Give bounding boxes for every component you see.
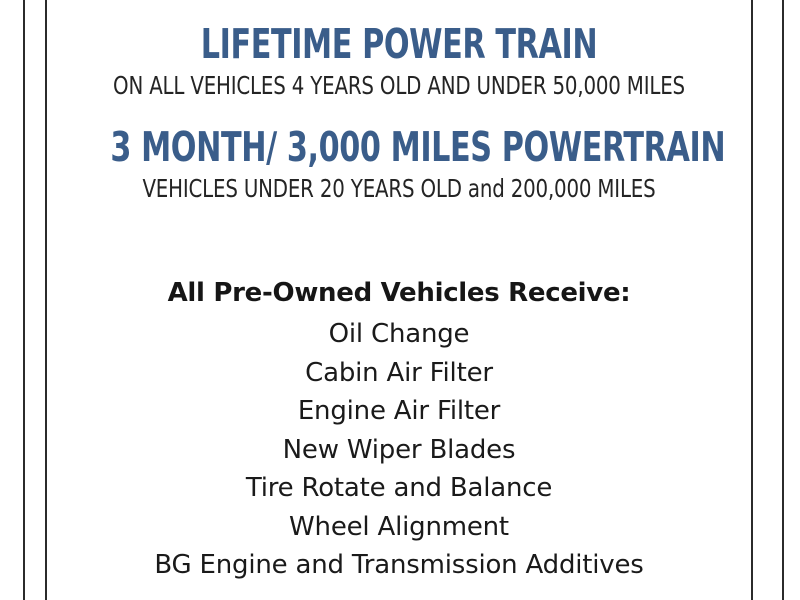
warranty-headline-3month: 3 MONTH/ 3,000 MILES POWERTRAIN — [110, 125, 687, 169]
frame-rule-right-outer — [782, 0, 784, 600]
flyer-page: LIFETIME POWER TRAIN ON ALL VEHICLES 4 Y… — [0, 0, 800, 600]
services-section: All Pre-Owned Vehicles Receive: Oil Chan… — [47, 277, 751, 585]
service-item: BG Engine and Transmission Additives — [47, 546, 751, 585]
service-item: New Wiper Blades — [47, 431, 751, 470]
warranty-subline-lifetime: ON ALL VEHICLES 4 YEARS OLD AND UNDER 50… — [89, 72, 709, 100]
service-item: Engine Air Filter — [47, 392, 751, 431]
warranty-subline-3month: VEHICLES UNDER 20 YEARS OLD and 200,000 … — [89, 175, 709, 203]
frame-rule-left-outer — [23, 0, 25, 600]
frame-rule-right-inner — [751, 0, 753, 600]
services-list: Oil Change Cabin Air Filter Engine Air F… — [47, 315, 751, 585]
warranty-headline-lifetime: LIFETIME POWER TRAIN — [110, 22, 687, 66]
service-item: Cabin Air Filter — [47, 354, 751, 393]
flyer-content: LIFETIME POWER TRAIN ON ALL VEHICLES 4 Y… — [47, 0, 751, 600]
service-item: Wheel Alignment — [47, 508, 751, 547]
warranty-block-lifetime: LIFETIME POWER TRAIN ON ALL VEHICLES 4 Y… — [47, 0, 751, 100]
services-heading: All Pre-Owned Vehicles Receive: — [47, 277, 751, 310]
warranty-block-3month: 3 MONTH/ 3,000 MILES POWERTRAIN VEHICLES… — [47, 100, 751, 203]
service-item: Tire Rotate and Balance — [47, 469, 751, 508]
service-item: Oil Change — [47, 315, 751, 354]
